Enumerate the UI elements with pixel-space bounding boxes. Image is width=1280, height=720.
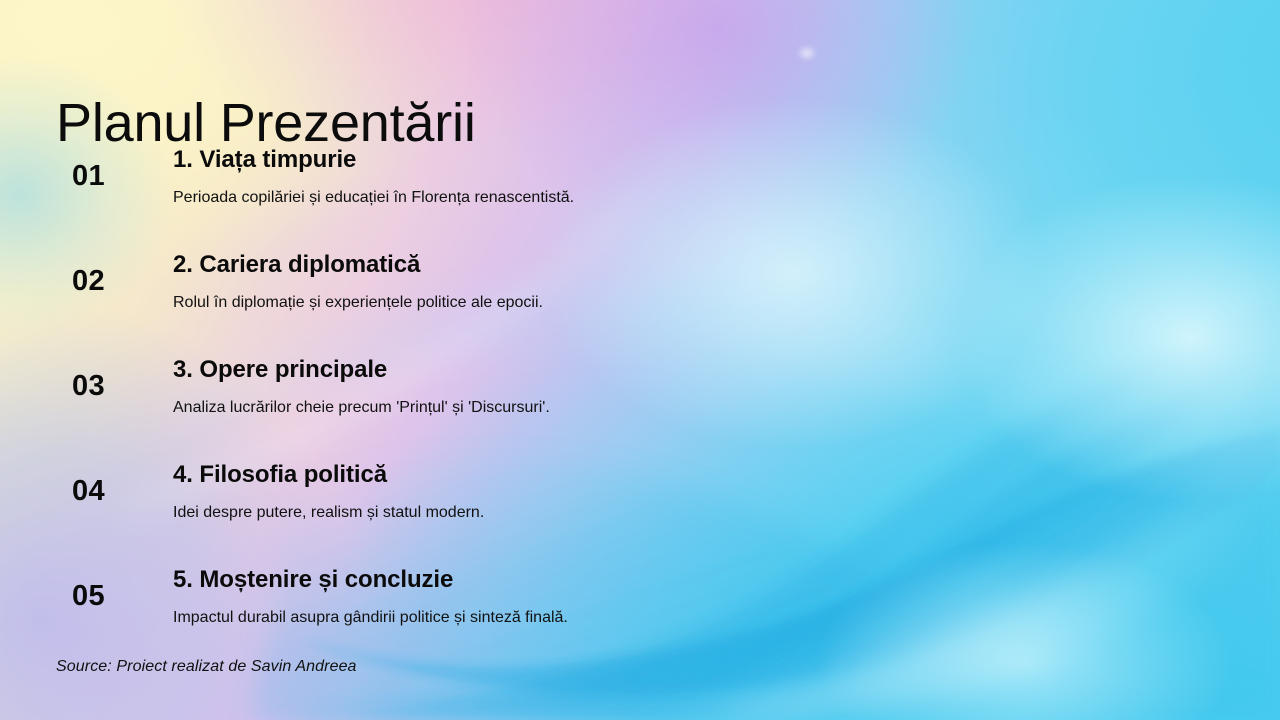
agenda-item-number: 02 bbox=[72, 265, 168, 298]
agenda-item-description: Impactul durabil asupra gândirii politic… bbox=[173, 608, 1056, 629]
agenda-item: 04 4. Filosofia politică Idei despre put… bbox=[56, 461, 1056, 566]
agenda-item-heading: 2. Cariera diplomatică bbox=[173, 251, 1056, 279]
agenda-item: 02 2. Cariera diplomatică Rolul în diplo… bbox=[56, 251, 1056, 356]
agenda-item-number: 05 bbox=[72, 580, 168, 613]
agenda-item-description: Rolul în diplomație și experiențele poli… bbox=[173, 293, 1056, 314]
agenda-item-heading: 1. Viața timpurie bbox=[173, 146, 1056, 174]
agenda-item-description: Perioada copilăriei și educației în Flor… bbox=[173, 188, 1056, 209]
agenda-item: 01 1. Viața timpurie Perioada copilăriei… bbox=[56, 146, 1056, 251]
agenda-item: 05 5. Moștenire și concluzie Impactul du… bbox=[56, 566, 1056, 671]
agenda-item: 03 3. Opere principale Analiza lucrărilo… bbox=[56, 356, 1056, 461]
source-note: Source: Proiect realizat de Savin Andree… bbox=[56, 658, 357, 676]
slide-content: Planul Prezentării 01 1. Viața timpurie … bbox=[0, 0, 1280, 720]
agenda-list: 01 1. Viața timpurie Perioada copilăriei… bbox=[56, 146, 1056, 671]
agenda-item-heading: 5. Moștenire și concluzie bbox=[173, 566, 1056, 594]
agenda-item-number: 03 bbox=[72, 370, 168, 403]
agenda-item-body: 3. Opere principale Analiza lucrărilor c… bbox=[173, 356, 1056, 419]
agenda-item-body: 2. Cariera diplomatică Rolul în diplomaț… bbox=[173, 251, 1056, 314]
agenda-item-heading: 4. Filosofia politică bbox=[173, 461, 1056, 489]
presentation-slide: Planul Prezentării 01 1. Viața timpurie … bbox=[0, 0, 1280, 720]
agenda-item-description: Analiza lucrărilor cheie precum 'Prințul… bbox=[173, 398, 1056, 419]
agenda-item-description: Idei despre putere, realism și statul mo… bbox=[173, 503, 1056, 524]
agenda-item-body: 4. Filosofia politică Idei despre putere… bbox=[173, 461, 1056, 524]
agenda-item-body: 1. Viața timpurie Perioada copilăriei și… bbox=[173, 146, 1056, 209]
agenda-item-number: 01 bbox=[72, 160, 168, 193]
agenda-item-heading: 3. Opere principale bbox=[173, 356, 1056, 384]
agenda-item-body: 5. Moștenire și concluzie Impactul durab… bbox=[173, 566, 1056, 629]
agenda-item-number: 04 bbox=[72, 475, 168, 508]
